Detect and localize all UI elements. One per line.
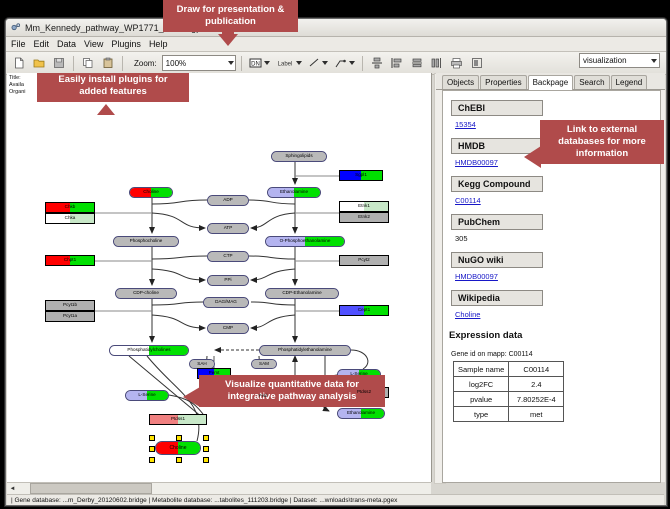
db-name-kegg: Kegg Compound — [451, 176, 543, 192]
menu-item-file[interactable]: File — [11, 39, 26, 49]
label-dropdown[interactable]: Label — [274, 58, 304, 68]
gene-node-pcyt1b[interactable]: Pcyt1b — [45, 300, 95, 311]
menu-item-view[interactable]: View — [84, 39, 103, 49]
db-link-nugo[interactable]: HMDB00097 — [455, 272, 660, 281]
gene-id-line: Gene id on mapp: C00114 — [451, 351, 660, 358]
selected-node-choline[interactable]: Choline — [155, 441, 201, 455]
gene-node-chpt1[interactable]: Chpt1 — [45, 255, 95, 266]
node-label: L-Serine — [138, 393, 155, 398]
paste-icon[interactable] — [99, 54, 117, 72]
node-label: Pemt — [209, 371, 220, 376]
node-label: Ethanolamine — [280, 190, 308, 195]
gene-node-etnk1[interactable]: Etnk1 — [339, 201, 389, 212]
metabolite-node-cdp-ethanolamine[interactable]: CDP-Ethanolamine — [265, 288, 339, 299]
node-label: Pcyt2 — [358, 258, 370, 263]
node-label: Etnk1 — [358, 204, 370, 209]
node-label: Choline — [170, 446, 187, 451]
tab-legend[interactable]: Legend — [611, 75, 648, 89]
copy-icon[interactable] — [79, 54, 97, 72]
toolbar-separator — [122, 56, 123, 71]
node-label: Pisd — [259, 394, 268, 399]
label-icon: Label — [276, 58, 294, 68]
metabolite-node-l-serine[interactable]: L-Serine — [125, 390, 169, 401]
node-label: Ethanolamine — [347, 411, 375, 416]
resize-handle[interactable] — [203, 457, 209, 463]
table-row: type met — [454, 407, 564, 422]
metabolite-node-cmp[interactable]: CMP — [207, 323, 249, 334]
gene-node-chka[interactable]: Chka — [45, 213, 95, 224]
resize-handle[interactable] — [149, 435, 155, 441]
cell-value: 2.4 — [509, 377, 564, 392]
db-link-wikipedia[interactable]: Choline — [455, 310, 660, 319]
chevron-down-icon[interactable] — [651, 59, 657, 63]
gene-node-chkb[interactable]: Chkb — [45, 202, 95, 213]
node-label: Sphingolipids — [285, 154, 312, 159]
node-label: SAH — [197, 362, 206, 367]
chevron-down-icon[interactable] — [228, 61, 234, 65]
node-label: ATP — [224, 226, 233, 231]
node-label: CDP-Ethanolamine — [282, 291, 321, 296]
db-block-kegg: Kegg Compound C00114 — [451, 174, 660, 205]
order-icon[interactable] — [468, 54, 486, 72]
chevron-down-icon[interactable] — [296, 61, 302, 65]
node-label: Pcyt1a — [63, 314, 77, 319]
db-value-pubchem: 305 — [455, 234, 660, 243]
node-label: Phosphatidylcholines — [127, 348, 170, 353]
db-link-kegg[interactable]: C00114 — [455, 196, 660, 205]
chevron-down-icon[interactable] — [349, 61, 355, 65]
stack-icon[interactable] — [428, 54, 446, 72]
node-label: Cept1 — [358, 308, 370, 313]
visualization-combo[interactable]: visualization — [579, 53, 660, 68]
new-icon[interactable] — [10, 54, 28, 72]
chevron-down-icon[interactable] — [322, 61, 328, 65]
open-icon[interactable] — [30, 54, 48, 72]
print-icon[interactable] — [448, 54, 466, 72]
toolbar: Zoom: 100% DN Label — [6, 52, 666, 75]
node-label: Ptdss2 — [357, 390, 371, 395]
gene-node-sgpl1[interactable]: Sgpl1 — [339, 170, 383, 181]
application-window: Mm_Kennedy_pathway_WP1771_45176.gpml Fil… — [5, 18, 667, 506]
metabolite-node-choline[interactable]: Choline — [129, 187, 173, 198]
title-bar: Mm_Kennedy_pathway_WP1771_45176.gpml — [6, 19, 666, 37]
zoom-value: 100% — [166, 59, 186, 68]
line-icon — [308, 57, 320, 69]
metabolite-node-phosphatidylethanolamine[interactable]: Phosphatidylethanolamine — [259, 345, 351, 356]
status-bar: | Gene database: ...m_Derby_20120602.bri… — [7, 494, 664, 505]
resize-handle[interactable] — [203, 435, 209, 441]
tab-properties[interactable]: Properties — [480, 75, 526, 89]
resize-handle[interactable] — [149, 457, 155, 463]
node-label: L-Serine — [350, 372, 367, 377]
menu-bar: File Edit Data View Plugins Help — [6, 37, 666, 52]
line-dropdown[interactable] — [306, 57, 330, 69]
node-label: PPi — [224, 278, 231, 283]
metabolite-node-phosphatidylcholines[interactable]: Phosphatidylcholines — [109, 345, 189, 356]
toolbar-separator — [362, 56, 363, 71]
app-icon — [10, 22, 21, 33]
gene-node-pcyt1a[interactable]: Pcyt1a — [45, 311, 95, 322]
cell-key: log2FC — [454, 377, 509, 392]
align-left-icon[interactable] — [388, 54, 406, 72]
toolbar-separator — [73, 56, 74, 71]
interaction-dropdown[interactable] — [332, 57, 357, 69]
node-label: Chkb — [65, 205, 76, 210]
node-label: Phosphatidylethanolamine — [278, 348, 332, 353]
datanode-icon: DN — [249, 57, 262, 69]
svg-text:Label: Label — [277, 62, 292, 68]
node-label: CDP-choline — [133, 291, 159, 296]
node-label: Pcyt1b — [63, 303, 77, 308]
datanode-dropdown[interactable]: DN — [247, 57, 272, 69]
db-name-wikipedia: Wikipedia — [451, 290, 543, 306]
gene-node-ptdss1[interactable]: Ptdss1 — [149, 414, 207, 425]
callout-visualize-arrow — [183, 387, 200, 407]
metabolite-node-dag-mag[interactable]: DAG/MAG — [203, 297, 249, 308]
metabolite-node-ppi[interactable]: PPi — [207, 275, 249, 286]
metabolite-node-phosphocholine[interactable]: Phosphocholine — [113, 236, 179, 247]
callout-links-arrow — [524, 146, 541, 168]
gene-node-etnk2[interactable]: Etnk2 — [339, 212, 389, 223]
pathway-canvas[interactable]: Title: Availa Organi — [7, 73, 432, 482]
cell-value: 7.80252E-4 — [509, 392, 564, 407]
chevron-down-icon[interactable] — [264, 61, 270, 65]
menu-item-data[interactable]: Data — [57, 39, 76, 49]
node-label: O-Phosphoethanolamine — [280, 239, 331, 244]
metabolite-node-atp[interactable]: ATP — [207, 223, 249, 234]
db-name-nugo: NuGO wiki — [451, 252, 543, 268]
metabolite-node-o-phosphoethanolamine[interactable]: O-Phosphoethanolamine — [265, 236, 345, 247]
metabolite-node-cdp-choline[interactable]: CDP-choline — [115, 288, 177, 299]
interaction-icon — [334, 57, 347, 69]
toolbar-separator — [241, 56, 242, 71]
cell-key: type — [454, 407, 509, 422]
metabolite-node-sam[interactable]: SAM — [251, 359, 277, 369]
zoom-label: Zoom: — [134, 59, 157, 68]
resize-handle[interactable] — [176, 457, 182, 463]
node-label: Sgpl1 — [355, 173, 367, 178]
visualization-value: visualization — [583, 56, 627, 65]
callout-draw: Draw for presentation & publication — [163, 0, 298, 32]
cell-value: met — [509, 407, 564, 422]
menu-item-help[interactable]: Help — [149, 39, 168, 49]
hscroll-thumb[interactable] — [30, 483, 152, 494]
cell-value: C00114 — [509, 362, 564, 377]
table-row: pvalue 7.80252E-4 — [454, 392, 564, 407]
side-panel-tabs: Objects Properties Backpage Search Legen… — [436, 73, 665, 90]
node-label: ADP — [223, 198, 232, 203]
resize-handle[interactable] — [203, 446, 209, 452]
node-label: CMP — [223, 326, 233, 331]
node-label: Chpt1 — [64, 258, 76, 263]
svg-text:DN: DN — [251, 62, 260, 68]
expression-table: Sample name C00114 log2FC 2.4 pvalue 7.8… — [453, 361, 564, 422]
node-label: Phosphocholine — [130, 239, 163, 244]
tab-objects[interactable]: Objects — [442, 75, 479, 89]
metabolite-node-ethanolamine[interactable]: Ethanolamine — [267, 187, 321, 198]
db-block-pubchem: PubChem 305 — [451, 212, 660, 243]
node-label: SAM — [259, 362, 269, 367]
zoom-combo[interactable]: 100% — [162, 55, 236, 71]
metabolite-node-sphingolipids[interactable]: Sphingolipids — [271, 151, 327, 162]
save-icon[interactable] — [50, 54, 68, 72]
table-row: Sample name C00114 — [454, 362, 564, 377]
metabolite-node-ctp[interactable]: CTP — [207, 251, 249, 262]
gene-node-pcyt2[interactable]: Pcyt2 — [339, 255, 389, 266]
node-label: Ptdss1 — [171, 417, 185, 422]
callout-plugins-arrow — [97, 104, 115, 115]
metabolite-node-adp[interactable]: ADP — [207, 195, 249, 206]
gene-node-cept1[interactable]: Cept1 — [339, 305, 389, 316]
db-block-wikipedia: Wikipedia Choline — [451, 288, 660, 319]
tab-backpage[interactable]: Backpage — [528, 75, 574, 90]
table-row: log2FC 2.4 — [454, 377, 564, 392]
db-name-pubchem: PubChem — [451, 214, 543, 230]
node-label: Choline — [143, 190, 159, 195]
node-label: CTP — [223, 254, 232, 259]
callout-links: Link to external databases for more info… — [540, 120, 664, 164]
callout-plugins: Easily install plugins for added feature… — [37, 73, 189, 102]
distribute-icon[interactable] — [408, 54, 426, 72]
callout-draw-neck — [222, 32, 234, 38]
db-block-nugo: NuGO wiki HMDB00097 — [451, 250, 660, 281]
menu-item-edit[interactable]: Edit — [34, 39, 50, 49]
menu-item-plugins[interactable]: Plugins — [111, 39, 141, 49]
expression-data-title: Expression data — [449, 330, 660, 341]
tab-search[interactable]: Search — [574, 75, 609, 89]
db-name-chebi: ChEBI — [451, 100, 543, 116]
cell-key: Sample name — [454, 362, 509, 377]
node-label: Etnk2 — [358, 215, 370, 220]
node-label: Chka — [65, 216, 76, 221]
cell-key: pvalue — [454, 392, 509, 407]
align-icon[interactable] — [368, 54, 386, 72]
node-label: DAG/MAG — [215, 300, 237, 305]
scroll-left-icon[interactable]: ◄ — [7, 483, 18, 494]
status-text: | Gene database: ...m_Derby_20120602.bri… — [7, 497, 397, 504]
metabolite-node-ethanolamine[interactable]: Ethanolamine — [337, 408, 385, 419]
horizontal-scrollbar[interactable]: ◄ — [7, 482, 431, 494]
